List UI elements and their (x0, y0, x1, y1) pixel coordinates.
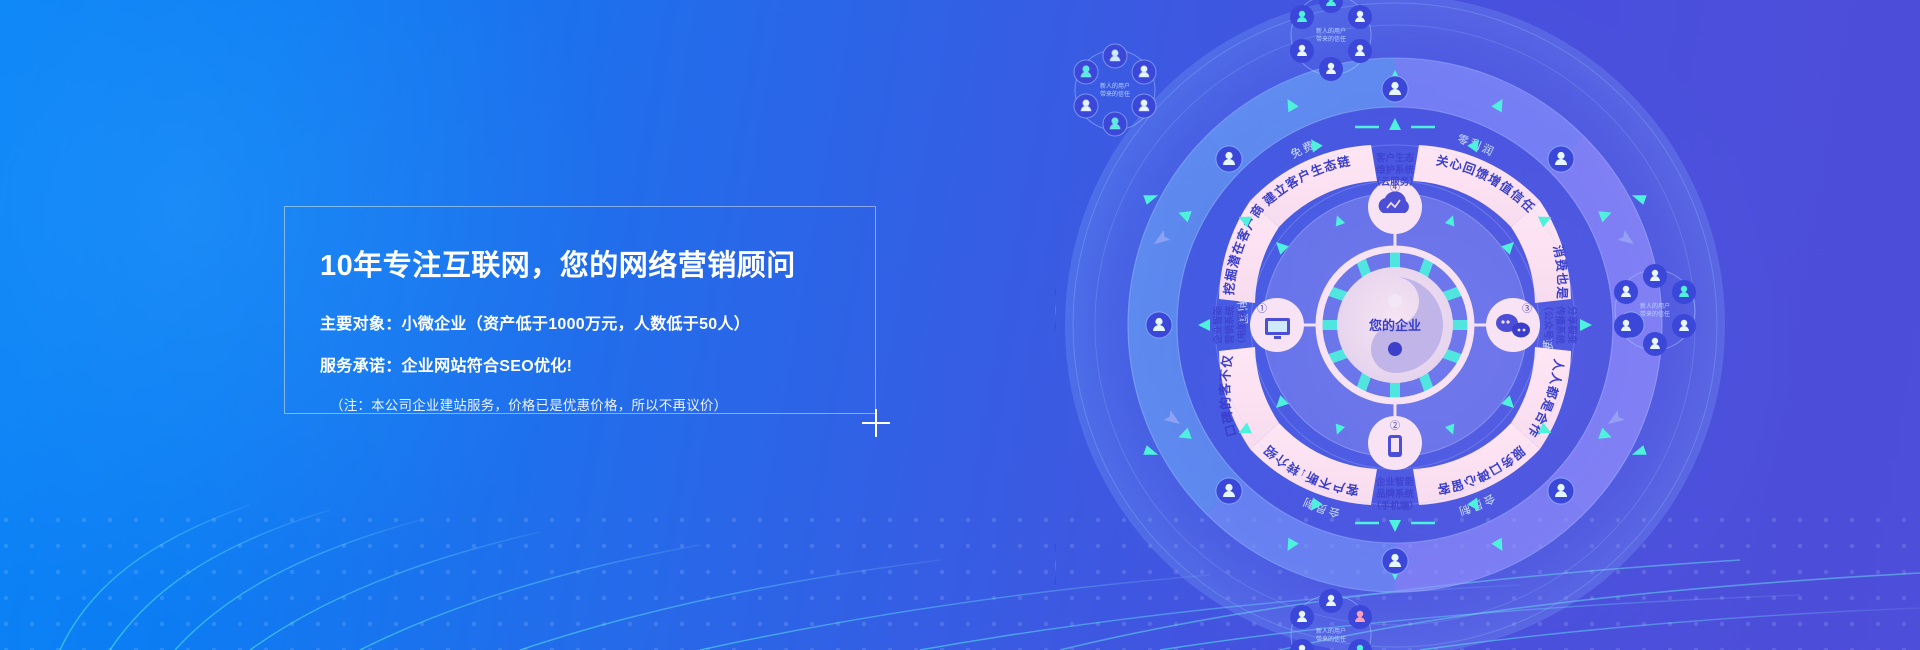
svg-text:新人的用户: 新人的用户 (1316, 27, 1346, 35)
svg-text:②: ② (1390, 420, 1400, 432)
service-promise-line: 服务承诺：企业网站符合SEO优化! (320, 352, 876, 376)
node-caption-chat: 分享裂变传播系统（公众号） (1542, 301, 1578, 349)
svg-text:③: ③ (1522, 303, 1532, 315)
svg-text:新人的用户: 新人的用户 (1316, 627, 1346, 635)
svg-text:带来的信任: 带来的信任 (1640, 310, 1670, 318)
page-title: 10年专注互联网，您的网络营销顾问 (320, 242, 876, 284)
diagram-node-chat: ③ (1486, 298, 1540, 352)
node-caption-monitor: 企业智能营销系统（电脑端） (1212, 301, 1248, 349)
svg-text:新人的用户: 新人的用户 (1100, 82, 1130, 90)
diagram-node-mobile: ② (1368, 416, 1422, 470)
svg-text:带来的信任: 带来的信任 (1100, 90, 1130, 98)
diagram-center-label: 您的企业 (1369, 318, 1421, 333)
banner-stage: 10年专注互联网，您的网络营销顾问 主要对象：小微企业（资产低于1000万元，人… (0, 0, 1920, 650)
price-note: （注：本公司企业建站服务，价格已是优惠价格，所以不再议价） (330, 394, 876, 414)
target-audience-line: 主要对象：小微企业（资产低于1000万元，人数低于50人） (320, 310, 876, 334)
marketing-ecosystem-diagram: 免费 零利润 免费 会员制 会员制 零利润 (1055, 0, 1735, 650)
node-caption-mobile: 企业智能品牌系统（手机端） (1371, 476, 1419, 512)
copy-panel: 10年专注互联网，您的网络营销顾问 主要对象：小微企业（资产低于1000万元，人… (284, 206, 876, 414)
diagram-node-cloud: ④ (1368, 180, 1422, 234)
svg-text:带来的信任: 带来的信任 (1316, 35, 1346, 43)
svg-text:带来的信任: 带来的信任 (1316, 635, 1346, 643)
svg-text:新人的用户: 新人的用户 (1640, 302, 1670, 310)
diagram-node-monitor: ① (1250, 298, 1304, 352)
svg-text:①: ① (1257, 303, 1267, 315)
node-caption-cloud: 客户生态维护系统（云服务） (1371, 152, 1419, 188)
